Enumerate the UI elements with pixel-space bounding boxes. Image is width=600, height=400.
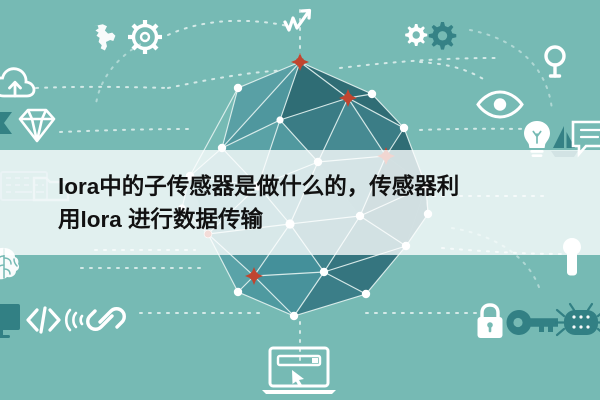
globe-icon <box>87 21 120 54</box>
bug-icon <box>556 304 600 335</box>
ribbon-icon <box>0 112 12 134</box>
laptop-icon <box>262 348 336 394</box>
chart-arrow-icon <box>285 11 310 31</box>
eye-icon <box>478 92 522 117</box>
signal-icon <box>66 310 82 330</box>
code-icon <box>28 308 59 332</box>
gear-medium-icon <box>429 22 457 50</box>
diamond-icon <box>20 110 54 141</box>
title-line-1: lora中的子传感器是做什么的，传感器利 <box>58 170 582 203</box>
search-icon <box>546 47 564 76</box>
link-icon <box>88 309 125 330</box>
cloud-upload-icon <box>0 69 34 96</box>
lock-icon <box>478 305 503 338</box>
page-title: lora中的子传感器是做什么的，传感器利 用lora 进行数据传输 <box>0 150 600 255</box>
title-line-2: 用lora 进行数据传输 <box>58 203 582 236</box>
cover-image-canvas: lora中的子传感器是做什么的，传感器利 用lora 进行数据传输 <box>0 0 600 400</box>
monitor-icon <box>0 304 20 338</box>
gear-icon <box>128 20 162 54</box>
gear-small-icon <box>405 24 427 46</box>
key-icon <box>507 310 559 335</box>
